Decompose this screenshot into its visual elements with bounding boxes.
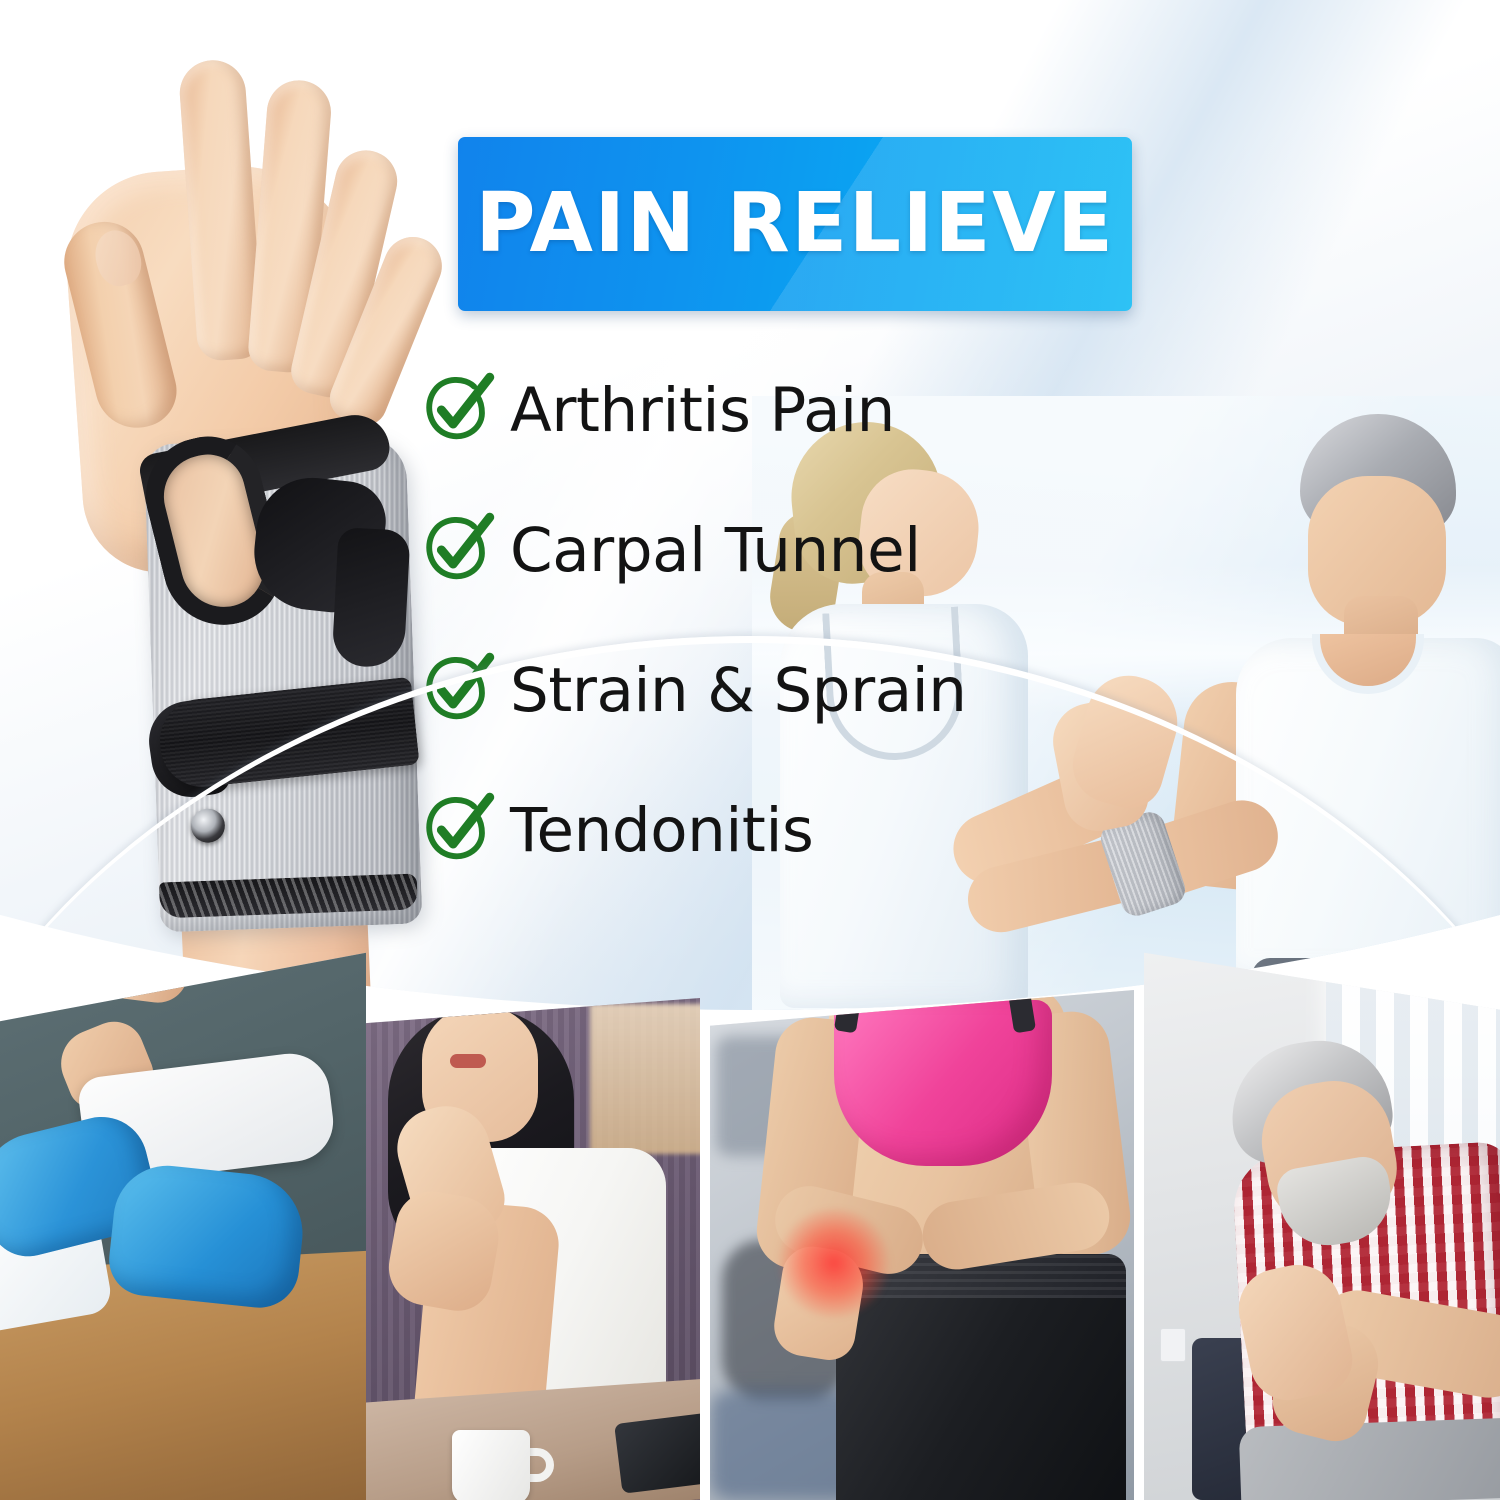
wrist-brace [144,436,423,933]
checklist-item-label: Arthritis Pain [510,380,895,441]
panel2-window-light [590,1004,700,1154]
checklist-item-label: Tendonitis [510,800,813,861]
checklist-item-label: Strain & Sprain [510,660,967,721]
panel2-coffee-mug [452,1430,530,1500]
check-circle-icon [418,371,496,449]
use-case-panel-gym [710,990,1134,1500]
checklist-item: Strain & Sprain [418,620,1118,760]
benefit-checklist: Arthritis Pain Carpal Tunnel [418,340,1118,900]
product-photo-hand-with-brace [52,48,452,1008]
use-case-panel-elderly [1144,930,1500,1500]
check-circle-icon [418,791,496,869]
check-circle-icon [418,511,496,589]
panel2-smartphone [614,1412,700,1493]
hero-section: PAIN RELIEVE Arthritis Pain [0,0,1500,1010]
headline-banner: PAIN RELIEVE [458,137,1132,311]
headline-text: PAIN RELIEVE [475,183,1114,265]
use-case-panel-casting [0,930,366,1500]
checklist-item-label: Carpal Tunnel [510,520,921,581]
checklist-item: Tendonitis [418,760,1118,900]
brace-upper-pad-tail [331,527,410,669]
panel3-pain-glow [776,1208,892,1318]
panel4-grey-pants [1239,1417,1500,1500]
panel4-wall-outlet [1160,1328,1186,1362]
product-feature-image: PAIN RELIEVE Arthritis Pain [0,0,1500,1500]
check-circle-icon [418,651,496,729]
checklist-item: Arthritis Pain [418,340,1118,480]
panel2-woman-lips [450,1054,486,1068]
use-case-panel-office [366,998,700,1500]
bottom-photo-strip [0,930,1500,1500]
checklist-item: Carpal Tunnel [418,480,1118,620]
